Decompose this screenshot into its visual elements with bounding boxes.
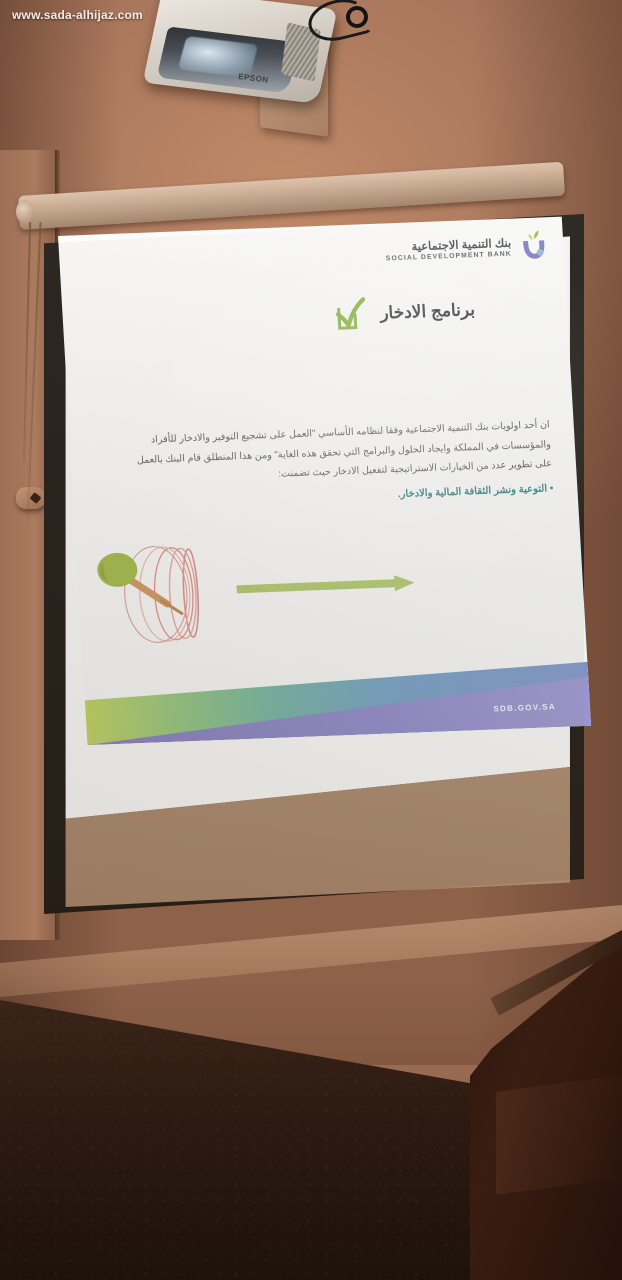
projected-slide: بنك التنمية الاجتماعية SOCIAL DEVELOPMEN… — [58, 217, 591, 746]
bank-logo: بنك التنمية الاجتماعية SOCIAL DEVELOPMEN… — [384, 229, 548, 269]
green-checkmark-icon — [329, 294, 369, 335]
podium-front-panel — [496, 1075, 622, 1195]
slide-body: ان أحد اولويات بنك التنمية الاجتماعية وف… — [93, 415, 554, 517]
bank-logo-mark — [516, 229, 548, 264]
projector-cable-coil — [346, 6, 368, 28]
slide-title: برنامج الادخار — [380, 300, 476, 324]
room-photo: EPSON بنك التنمية الاجتماعية SOCIAL DEVE… — [0, 0, 622, 1280]
site-watermark: www.sada-alhijaz.com — [12, 8, 143, 22]
projector: EPSON — [160, 0, 400, 136]
bank-logo-text: بنك التنمية الاجتماعية SOCIAL DEVELOPMEN… — [385, 238, 512, 263]
slide-title-row: برنامج الادخار — [329, 290, 476, 335]
